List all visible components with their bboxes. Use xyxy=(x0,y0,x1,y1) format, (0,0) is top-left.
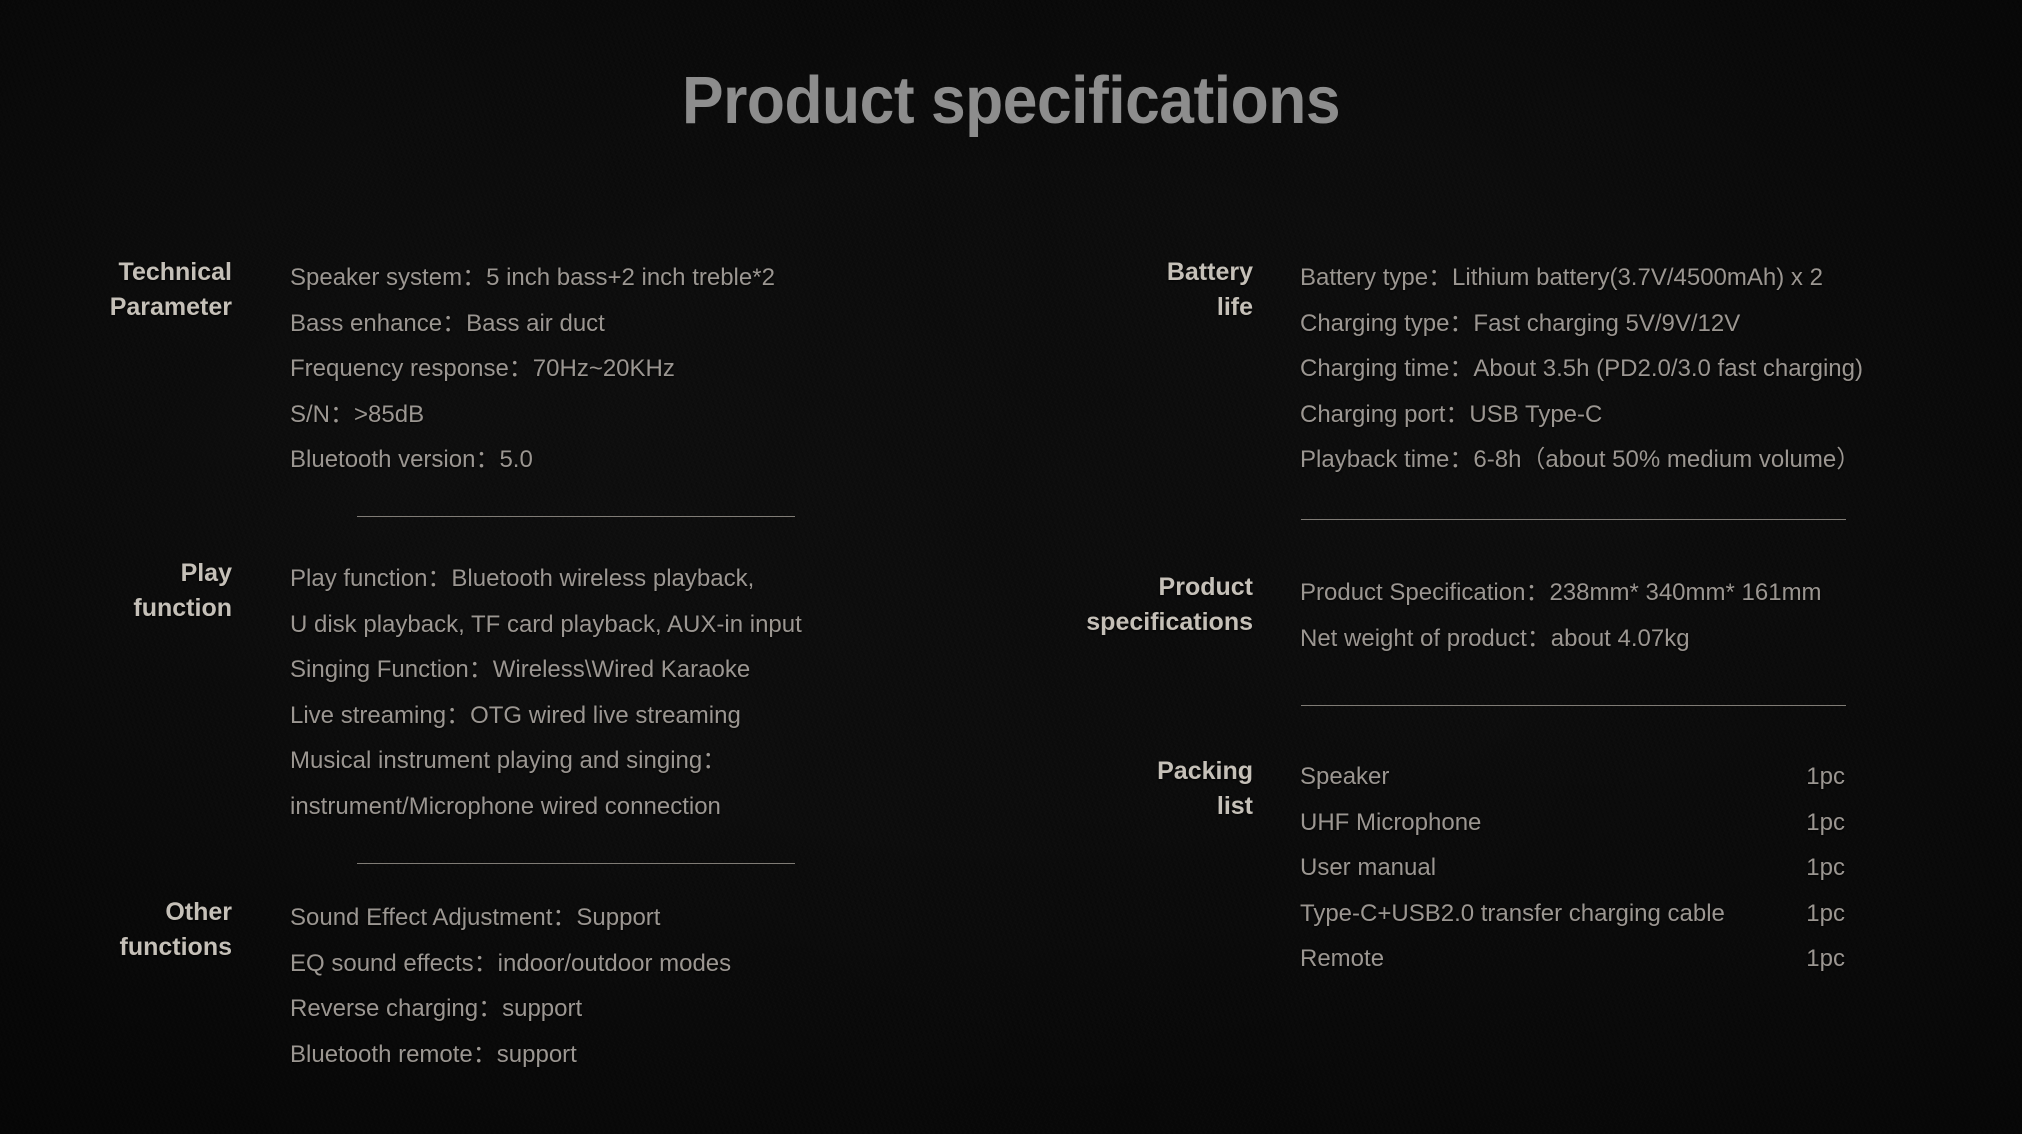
spec-line: Net weight of product：about 4.07kg xyxy=(1300,616,2022,662)
packing-list-row: UHF Microphone 1pc xyxy=(1300,800,1845,846)
spec-line: Bluetooth remote：support xyxy=(290,1032,1010,1078)
packing-item-qty: 1pc xyxy=(1806,754,1845,800)
spec-line: EQ sound effects：indoor/outdoor modes xyxy=(290,941,1010,987)
spec-line: instrument/Microphone wired connection xyxy=(290,784,1010,830)
section-label-battery-life: Battery life xyxy=(1010,255,1253,325)
packing-list-row: Speaker 1pc xyxy=(1300,754,1845,800)
packing-item-name: Remote xyxy=(1300,936,1384,982)
section-label-play-function: Play function xyxy=(0,556,232,626)
spec-line: Play function：Bluetooth wireless playbac… xyxy=(290,556,1010,602)
section-battery-life: Battery life Battery type：Lithium batter… xyxy=(1010,255,2022,483)
packing-item-qty: 1pc xyxy=(1806,891,1845,937)
specs-columns: Technical Parameter Speaker system：5 inc… xyxy=(0,0,2022,1134)
section-label-technical-parameter: Technical Parameter xyxy=(0,255,232,325)
spec-line: Frequency response：70Hz~20KHz xyxy=(290,346,1010,392)
packing-item-qty: 1pc xyxy=(1806,845,1845,891)
spec-line: Charging port：USB Type-C xyxy=(1300,392,2022,438)
spec-line: Reverse charging：support xyxy=(290,986,1010,1032)
section-technical-parameter: Technical Parameter Speaker system：5 inc… xyxy=(0,255,1010,483)
spec-line: Singing Function：Wireless\Wired Karaoke xyxy=(290,647,1010,693)
section-body-battery-life: Battery type：Lithium battery(3.7V/4500mA… xyxy=(1300,255,2022,483)
section-product-specifications: Product specifications Product Specifica… xyxy=(1010,570,2022,661)
spec-line: Product Specification：238mm* 340mm* 161m… xyxy=(1300,570,2022,616)
section-label-product-specifications: Product specifications xyxy=(1010,570,1253,640)
spec-line: Charging time：About 3.5h (PD2.0/3.0 fast… xyxy=(1300,346,2022,392)
packing-list-row: Remote 1pc xyxy=(1300,936,1845,982)
section-body-play-function: Play function：Bluetooth wireless playbac… xyxy=(290,556,1010,829)
packing-item-name: UHF Microphone xyxy=(1300,800,1481,846)
section-body-packing-list: Speaker 1pc UHF Microphone 1pc User manu… xyxy=(1300,754,2022,982)
section-divider xyxy=(1301,705,1846,706)
section-play-function: Play function Play function：Bluetooth wi… xyxy=(0,556,1010,829)
spec-line: Speaker system：5 inch bass+2 inch treble… xyxy=(290,255,1010,301)
product-specifications-page: Product specifications Technical Paramet… xyxy=(0,0,2022,1134)
spec-line: Playback time：6-8h（about 50% medium volu… xyxy=(1300,437,2022,483)
spec-line: U disk playback, TF card playback, AUX-i… xyxy=(290,602,1010,648)
spec-line: Sound Effect Adjustment：Support xyxy=(290,895,1010,941)
section-body-other-functions: Sound Effect Adjustment：Support EQ sound… xyxy=(290,895,1010,1077)
packing-list-row: Type-C+USB2.0 transfer charging cable 1p… xyxy=(1300,891,1845,937)
section-label-other-functions: Other functions xyxy=(0,895,232,965)
section-divider xyxy=(357,863,795,864)
packing-list-row: User manual 1pc xyxy=(1300,845,1845,891)
section-body-technical-parameter: Speaker system：5 inch bass+2 inch treble… xyxy=(290,255,1010,483)
spec-line: S/N：>85dB xyxy=(290,392,1010,438)
spec-line: Bluetooth version：5.0 xyxy=(290,437,1010,483)
section-label-packing-list: Packing list xyxy=(1010,754,1253,824)
packing-item-qty: 1pc xyxy=(1806,936,1845,982)
packing-item-name: Type-C+USB2.0 transfer charging cable xyxy=(1300,891,1725,937)
section-divider xyxy=(357,516,795,517)
packing-item-name: User manual xyxy=(1300,845,1436,891)
spec-line: Charging type：Fast charging 5V/9V/12V xyxy=(1300,301,2022,347)
spec-line: Bass enhance：Bass air duct xyxy=(290,301,1010,347)
section-packing-list: Packing list Speaker 1pc UHF Microphone … xyxy=(1010,754,2022,982)
section-other-functions: Other functions Sound Effect Adjustment：… xyxy=(0,895,1010,1077)
packing-item-qty: 1pc xyxy=(1806,800,1845,846)
section-body-product-specifications: Product Specification：238mm* 340mm* 161m… xyxy=(1300,570,2022,661)
spec-line: Musical instrument playing and singing： xyxy=(290,738,1010,784)
section-divider xyxy=(1301,519,1846,520)
spec-line: Battery type：Lithium battery(3.7V/4500mA… xyxy=(1300,255,2022,301)
packing-item-name: Speaker xyxy=(1300,754,1389,800)
spec-line: Live streaming：OTG wired live streaming xyxy=(290,693,1010,739)
